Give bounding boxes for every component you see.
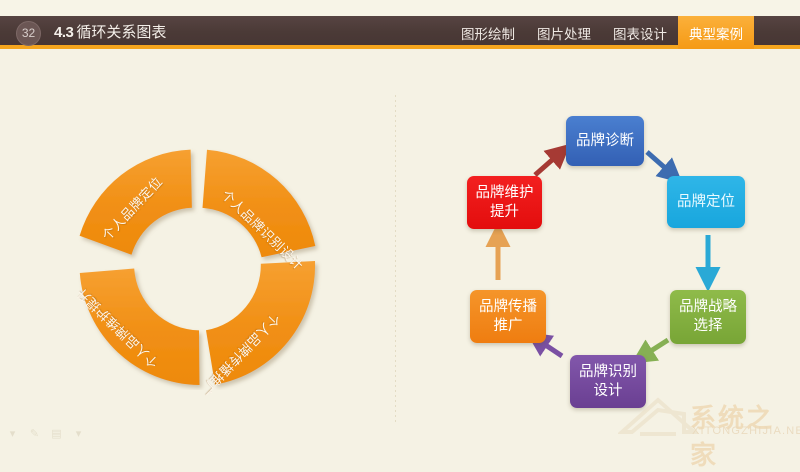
donut-svg [45,145,355,390]
title-text: 循环关系图表 [76,24,166,41]
slides-icon[interactable]: ▤ [50,428,63,441]
pen-icon[interactable]: ✎ [28,428,41,441]
vertical-dotted-divider [395,95,396,425]
cycle-donut-diagram: 个人品牌定位 个人品牌识别设计 个人品牌传播推广 个人品牌维护提升 [45,145,355,390]
page-number-badge: 32 [16,21,41,46]
arrow-strategy-to-identity [643,340,668,356]
arrow-diagnosis-to-positioning [647,152,672,174]
flow-box-0-line1: 品牌诊断 [576,132,634,151]
flow-box-4-line1: 品牌传播 [479,298,537,317]
flow-box-5-line1: 品牌维护 [476,184,534,203]
page-title: 4.3循环关系图表 [54,21,166,44]
options-icon[interactable]: ▾ [72,428,85,441]
flow-box-brand-identity[interactable]: 品牌识别 设计 [570,355,646,408]
flow-box-2-line1: 品牌战略 [679,298,737,317]
flow-box-brand-maintenance[interactable]: 品牌维护 提升 [467,176,542,229]
tab-image-processing[interactable]: 图片处理 [526,16,602,49]
flow-box-brand-strategy[interactable]: 品牌战略 选择 [670,290,746,344]
flow-box-brand-promotion[interactable]: 品牌传播 推广 [470,290,546,343]
flow-box-5-line2: 提升 [490,203,519,222]
tab-chart-design[interactable]: 图表设计 [602,16,678,49]
flow-box-brand-diagnosis[interactable]: 品牌诊断 [566,116,644,166]
arrow-maintenance-to-diagnosis [535,153,560,175]
flow-box-2-line2: 选择 [694,317,723,336]
tab-graphic-drawing[interactable]: 图形绘制 [450,16,526,49]
pen-menu-icon[interactable]: ▾ [6,428,19,441]
nav-tabs: 图形绘制 图片处理 图表设计 典型案例 [450,16,754,49]
flow-box-4-line2: 推广 [494,317,523,336]
flow-box-brand-positioning[interactable]: 品牌定位 [667,176,745,228]
ppt-presentation-toolbar: ▾ ✎ ▤ ▾ [6,428,85,441]
flow-box-1-line1: 品牌定位 [677,193,735,212]
title-number: 4.3 [54,24,73,41]
top-strip [0,0,800,16]
flow-box-3-line1: 品牌识别 [579,363,637,382]
flow-box-3-line2: 设计 [594,382,623,401]
tab-typical-cases[interactable]: 典型案例 [678,16,754,49]
